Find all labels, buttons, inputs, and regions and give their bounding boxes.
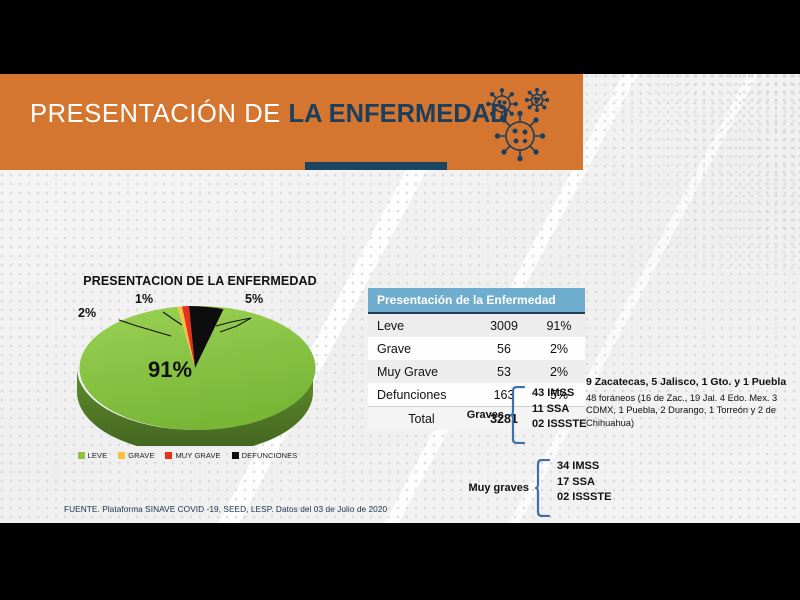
- foraneos-note-heading: 9 Zacatecas, 5 Jalisco, 1 Gto. y 1 Puebl…: [586, 376, 791, 389]
- legend-item-leve: LEVE: [78, 451, 108, 460]
- breakdown-item: 34 IMSS: [557, 459, 611, 475]
- title-underline-bar: [305, 162, 447, 170]
- table-row: Grave 56 2%: [368, 337, 585, 360]
- legend-swatch-defunciones: [232, 452, 239, 459]
- breakdown-item: 43 IMSS: [532, 386, 586, 402]
- legend-label-defunciones: DEFUNCIONES: [242, 451, 298, 460]
- graves-breakdown: Graves 43 IMSS 11 SSA 02 ISSSTE: [510, 386, 600, 444]
- legend-item-muy-grave: MUY GRAVE: [165, 451, 220, 460]
- table-cell-pct: 91%: [533, 313, 585, 337]
- pie-callout-defunciones: 5%: [245, 292, 263, 306]
- page-title: PRESENTACIÓN DE LA ENFERMEDAD: [30, 100, 509, 129]
- letterbox-top: [0, 0, 800, 74]
- table-row: Leve 3009 91%: [368, 313, 585, 337]
- muy-graves-breakdown-label: Muy graves: [468, 482, 535, 494]
- pie-callout-grave: 2%: [78, 306, 96, 320]
- muy-graves-breakdown-items: 34 IMSS 17 SSA 02 ISSSTE: [557, 459, 611, 506]
- chart-legend: LEVE GRAVE MUY GRAVE DEFUNCIONES: [55, 451, 320, 460]
- brace-icon: [510, 386, 528, 444]
- header-banner: PRESENTACIÓN DE LA ENFERMEDAD: [0, 74, 583, 170]
- breakdown-item: 17 SSA: [557, 475, 611, 491]
- legend-label-leve: LEVE: [88, 451, 108, 460]
- table-cell-pct: 2%: [533, 360, 585, 383]
- brace-icon: [535, 459, 553, 517]
- letterbox-bottom: [0, 523, 800, 600]
- pie-center-label: 91%: [125, 357, 215, 383]
- table-total-label: Total: [368, 407, 475, 431]
- legend-item-defunciones: DEFUNCIONES: [232, 451, 298, 460]
- breakdown-item: 11 SSA: [532, 402, 586, 418]
- foraneos-note: 9 Zacatecas, 5 Jalisco, 1 Gto. y 1 Puebl…: [586, 376, 791, 429]
- table-row: Muy Grave 53 2%: [368, 360, 585, 383]
- table-cell-count: 3009: [475, 313, 533, 337]
- slide-canvas: PRESENTACIÓN DE LA ENFERMEDAD: [0, 74, 800, 523]
- breakdown-item: 02 ISSSTE: [532, 417, 586, 433]
- table-cell-label: Leve: [368, 313, 475, 337]
- table-cell-pct: 2%: [533, 337, 585, 360]
- table-cell-label: Defunciones: [368, 383, 475, 407]
- legend-swatch-grave: [118, 452, 125, 459]
- slide-container: PRESENTACIÓN DE LA ENFERMEDAD: [0, 0, 800, 600]
- legend-item-grave: GRAVE: [118, 451, 154, 460]
- graves-breakdown-items: 43 IMSS 11 SSA 02 ISSSTE: [532, 386, 586, 433]
- table-cell-count: 56: [475, 337, 533, 360]
- table-cell-label: Muy Grave: [368, 360, 475, 383]
- legend-swatch-leve: [78, 452, 85, 459]
- legend-label-muy-grave: MUY GRAVE: [175, 451, 220, 460]
- legend-label-grave: GRAVE: [128, 451, 154, 460]
- breakdown-item: 02 ISSSTE: [557, 490, 611, 506]
- table-cell-count: 53: [475, 360, 533, 383]
- pie-callout-muy-grave: 1%: [135, 292, 153, 306]
- coronavirus-icon: [480, 86, 560, 162]
- source-footer: FUENTE. Plataforma SINAVE COVID -19, SEE…: [64, 504, 387, 514]
- muy-graves-breakdown: Muy graves 34 IMSS 17 SSA 02 ISSSTE: [535, 459, 625, 517]
- table-cell-label: Grave: [368, 337, 475, 360]
- page-title-light: PRESENTACIÓN DE: [30, 100, 289, 128]
- foraneos-note-body: 48 foráneos (16 de Zac., 19 Jal. 4 Edo. …: [586, 392, 791, 429]
- graves-breakdown-label: Graves: [467, 409, 510, 421]
- page-title-bold: LA ENFERMEDAD: [289, 100, 509, 128]
- table-header-title: Presentación de la Enfermedad: [368, 288, 585, 313]
- table-header-row: Presentación de la Enfermedad: [368, 288, 585, 313]
- legend-swatch-muy-grave: [165, 452, 172, 459]
- chart-title: PRESENTACION DE LA ENFERMEDAD: [70, 274, 330, 288]
